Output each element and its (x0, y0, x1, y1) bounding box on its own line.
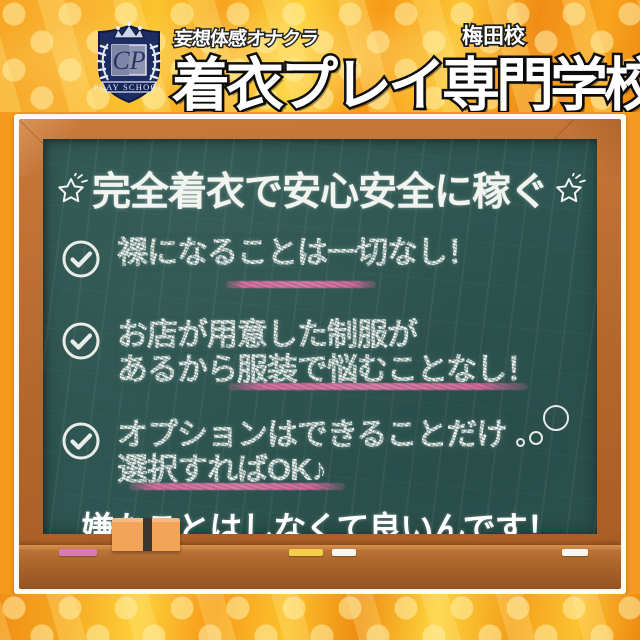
benefit-item-2: お店が用意した制服が あるから服装で悩むことなし！ (59, 317, 536, 388)
benefit-text-3-line-1: オプションはできることだけ (117, 417, 506, 452)
school-crest-emblem: CP PLAY SCHOOL (88, 18, 170, 106)
footer-banner-strip (0, 594, 640, 640)
bubble-medium-icon (529, 431, 543, 445)
bubble-small-icon (516, 438, 525, 447)
footer-polkadot-pattern (0, 594, 640, 640)
bubble-large-icon (543, 405, 569, 431)
check-circle-icon (59, 419, 103, 468)
chalkboard-surface: 完全着衣で安心安全に稼ぐ 裸になる (43, 139, 597, 534)
chalk-white (332, 549, 356, 556)
emblem-ribbon-label: PLAY SCHOOL (94, 82, 164, 92)
benefit-text-2-line-1: お店が用意した制服が (117, 317, 417, 352)
eraser-band (143, 518, 152, 551)
chalk-yellow (289, 549, 323, 556)
benefit-item-3: オプションはできることだけ 選択すればOK♪ (59, 417, 506, 488)
site-header-banner: CP PLAY SCHOOL 妄想体感オナクラ 梅田校 着衣プレイ専門学校 (0, 0, 640, 112)
promo-banner-canvas: CP PLAY SCHOOL 妄想体感オナクラ 梅田校 着衣プレイ専門学校 (0, 0, 640, 640)
check-circle-icon (59, 319, 103, 368)
underline-accent-2 (228, 383, 528, 390)
star-icon (552, 173, 586, 217)
benefit-text-3: オプションはできることだけ 選択すればOK♪ (117, 417, 506, 488)
benefit-text-1: 裸になることは一切なし！ (117, 235, 477, 270)
underline-accent-1 (226, 281, 376, 288)
star-icon (54, 173, 88, 217)
benefit-text-2: お店が用意した制服が あるから服装で悩むことなし！ (117, 317, 536, 388)
chalkboard-outer-frame: 完全着衣で安心安全に稼ぐ 裸になる (14, 114, 626, 594)
site-title: 着衣プレイ専門学校 (172, 38, 640, 112)
chalkboard-wood-frame: 完全着衣で安心安全に稼ぐ 裸になる (19, 119, 621, 589)
chalk-pink (59, 549, 97, 556)
headline-row: 完全着衣で安心安全に稼ぐ (43, 161, 597, 217)
benefit-item-1: 裸になることは一切なし！ (59, 235, 477, 286)
underline-accent-3 (129, 483, 345, 490)
chalk-white-2 (562, 549, 588, 556)
chalkboard-eraser (112, 518, 180, 551)
svg-text:CP: CP (112, 46, 145, 75)
headline-text: 完全着衣で安心安全に稼ぐ (92, 171, 548, 214)
check-circle-icon (59, 237, 103, 286)
